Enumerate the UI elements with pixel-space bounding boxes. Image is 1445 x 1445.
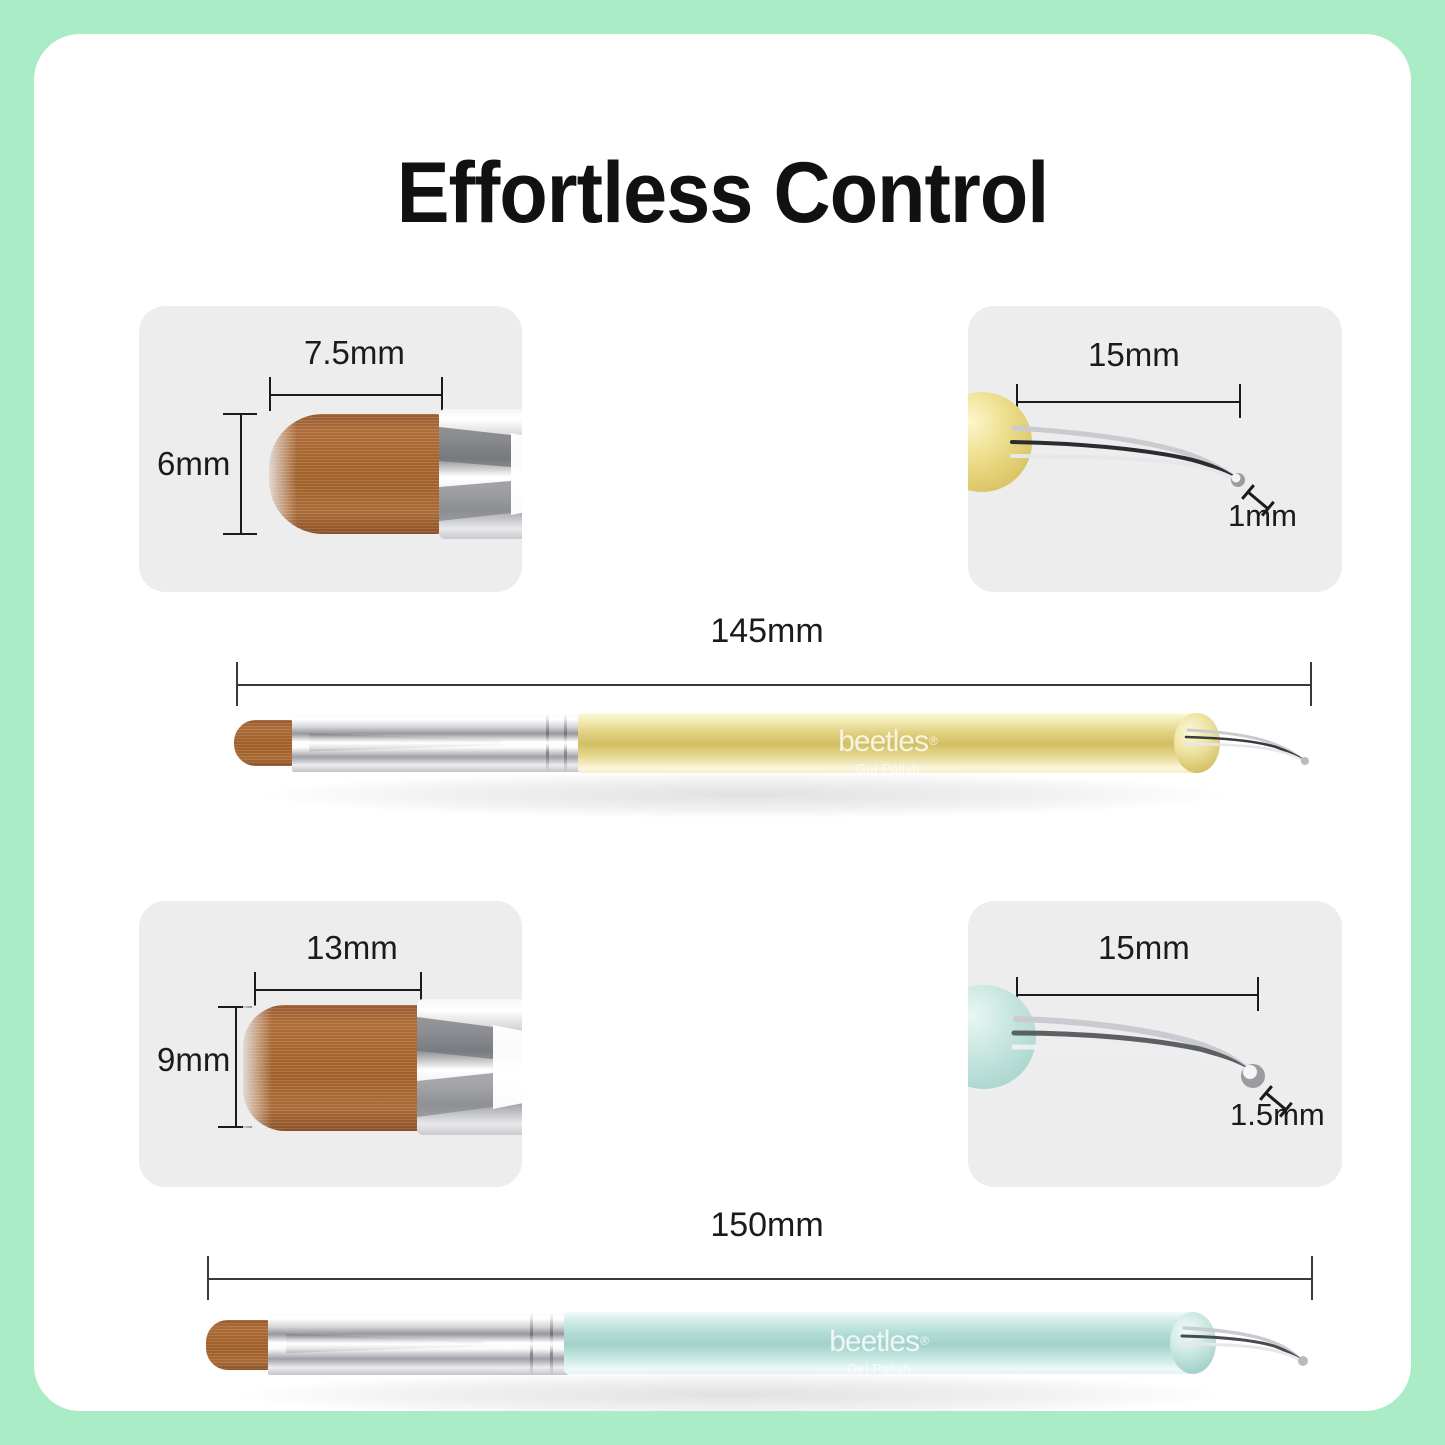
brush-ferrule-highlight-mint xyxy=(417,999,522,1135)
tool-yellow: beetles® Gel Polish xyxy=(234,706,1324,780)
brand-registered-mint: ® xyxy=(920,1334,929,1348)
brand-tagline-mint: Gel Polish xyxy=(564,1362,1194,1375)
dotting-tip-detail-panel-mint: 15mm 1.5mm xyxy=(968,901,1342,1187)
brush-head-detail-panel-yellow: 7.5mm 6mm xyxy=(139,306,522,592)
brush-width-label-yellow: 7.5mm xyxy=(304,334,405,372)
brush-height-label-yellow: 6mm xyxy=(157,445,230,483)
brush-head-detail-panel-mint: 13mm 9mm xyxy=(139,901,522,1187)
brush-bristles-mint xyxy=(243,1005,423,1131)
tool-mint: beetles® Gel Polish xyxy=(206,1304,1316,1380)
dotting-tip-label-mint: 1.5mm xyxy=(1230,1097,1325,1133)
brand-tagline-yellow: Gel Polish xyxy=(578,762,1198,775)
dotting-shaft-yellow xyxy=(968,306,1342,592)
brand-logo-mint: beetles® Gel Polish xyxy=(564,1327,1194,1375)
dotting-shaft-tool-mint xyxy=(1174,1304,1324,1380)
handle-mint: beetles® Gel Polish xyxy=(564,1312,1194,1374)
dotting-shaft-tool-yellow xyxy=(1178,706,1328,780)
handle-yellow: beetles® Gel Polish xyxy=(578,713,1198,773)
page-title: Effortless Control xyxy=(89,144,1356,243)
brand-logo-yellow: beetles® Gel Polish xyxy=(578,727,1198,775)
total-length-dimension-yellow xyxy=(236,662,1312,706)
dotting-tip-detail-panel-yellow: 15mm 1mm xyxy=(968,306,1342,592)
dotting-shaft-mint xyxy=(968,901,1342,1187)
brand-name-mint: beetles xyxy=(829,1327,919,1357)
brush-bristles-yellow xyxy=(269,414,444,534)
dotting-tip-label-yellow: 1mm xyxy=(1228,498,1297,534)
brand-registered-yellow: ® xyxy=(929,734,938,748)
brush-head-yellow xyxy=(234,720,296,766)
total-length-dimension-mint xyxy=(207,1256,1313,1300)
brand-name-yellow: beetles xyxy=(838,727,928,757)
ferrule-yellow xyxy=(292,714,582,772)
brush-width-label-mint: 13mm xyxy=(306,929,398,967)
infographic-card: Effortless Control 7.5mm 6mm 15mm xyxy=(34,34,1411,1411)
ferrule-mint xyxy=(268,1313,568,1375)
total-length-label-mint: 150mm xyxy=(710,1206,823,1245)
brush-ferrule-highlight-yellow xyxy=(439,409,522,539)
total-length-label-yellow: 145mm xyxy=(710,612,823,651)
brush-head-mint xyxy=(206,1320,272,1370)
brush-height-label-mint: 9mm xyxy=(157,1041,230,1079)
